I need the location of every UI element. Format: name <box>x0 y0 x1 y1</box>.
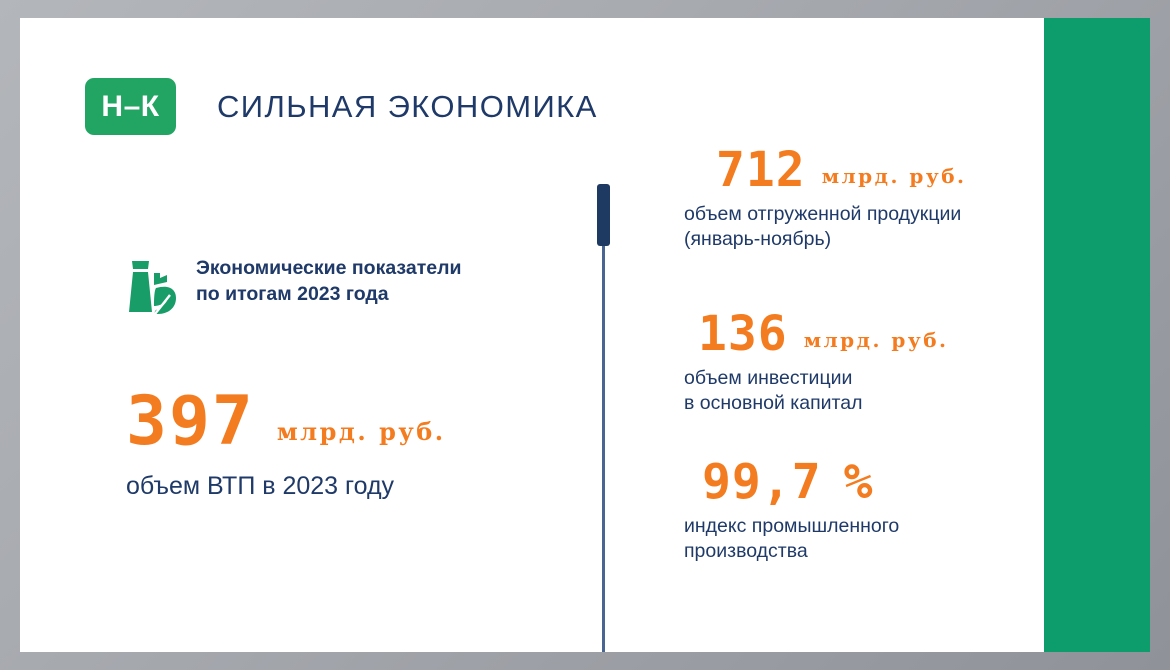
slide-root: Н–К СИЛЬНАЯ ЭКОНОМИКА <box>0 0 1170 670</box>
stat-value: 712 <box>716 146 806 194</box>
stat-label: индекс промышленного производства <box>684 514 1060 565</box>
stat-number-row: 712 млрд. руб. <box>716 146 1060 194</box>
stat-unit: млрд. руб. <box>804 328 949 352</box>
stat-value: 136 <box>698 310 788 358</box>
stat-unit: % <box>844 458 874 506</box>
stat-label-line-1: индекс промышленного <box>684 514 1060 539</box>
subheading-line-1: Экономические показатели <box>196 256 461 282</box>
right-column: 712 млрд. руб. объем отгруженной продукц… <box>660 18 1060 652</box>
divider-line <box>602 246 605 652</box>
stat-number-row: 397 млрд. руб. <box>126 388 556 456</box>
stat-label: объем ВТП в 2023 году <box>126 470 556 503</box>
stat-label-line-2: в основной капитал <box>684 391 1060 416</box>
slide-canvas: Н–К СИЛЬНАЯ ЭКОНОМИКА <box>20 18 1150 652</box>
left-column: Экономические показатели по итогам 2023 … <box>20 18 580 652</box>
stat-industrial-production-index: 99,7 % индекс промышленного производства <box>660 458 1060 565</box>
factory-leaf-icon <box>126 260 178 318</box>
stat-value: 397 <box>126 388 255 456</box>
stat-gross-regional-product: 397 млрд. руб. объем ВТП в 2023 году <box>126 388 556 503</box>
divider-cap <box>597 184 610 246</box>
subheading-line-2: по итогам 2023 года <box>196 282 461 308</box>
stat-shipped-goods: 712 млрд. руб. объем отгруженной продукц… <box>660 146 1060 253</box>
stat-number-row: 99,7 % <box>702 458 1060 506</box>
subheading-block: Экономические показатели по итогам 2023 … <box>126 256 461 318</box>
subheading-text: Экономические показатели по итогам 2023 … <box>196 256 461 308</box>
stat-capital-investment: 136 млрд. руб. объем инвестиции в основн… <box>660 310 1060 417</box>
stat-number-row: 136 млрд. руб. <box>698 310 1060 358</box>
stat-value: 99,7 <box>702 458 822 506</box>
stat-label-line-1: объем инвестиции <box>684 366 1060 391</box>
stat-label-line-2: (январь-ноябрь) <box>684 227 1060 252</box>
stat-label-line-1: объем отгруженной продукции <box>684 202 1060 227</box>
stat-unit: млрд. руб. <box>822 164 967 188</box>
stat-label: объем инвестиции в основной капитал <box>684 366 1060 417</box>
stat-label-line-2: производства <box>684 539 1060 564</box>
stat-unit: млрд. руб. <box>277 417 446 446</box>
stat-label: объем отгруженной продукции (январь-нояб… <box>684 202 1060 253</box>
